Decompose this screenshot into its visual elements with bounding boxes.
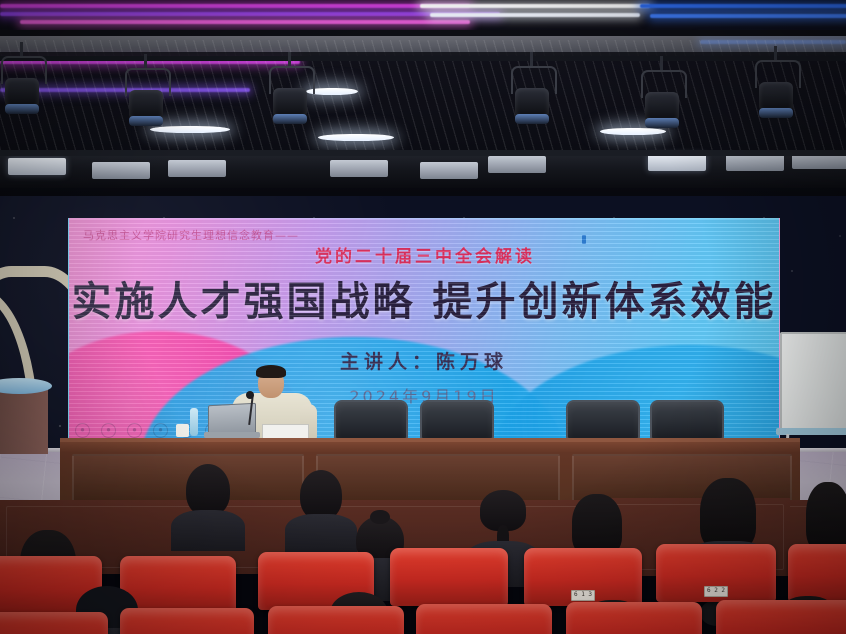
person-head — [806, 482, 846, 552]
blue-strip-2 — [650, 14, 846, 18]
stage-chair — [420, 400, 494, 440]
spotlight-lens — [759, 108, 793, 118]
auditorium-seat[interactable] — [120, 608, 254, 634]
presenter-hair — [256, 365, 286, 378]
lighting-bar — [0, 150, 846, 156]
auditorium-seat[interactable]: 6 2 2 — [656, 544, 776, 602]
violet-strip — [0, 12, 500, 16]
auditorium-seat[interactable] — [268, 606, 404, 634]
auditorium-seat[interactable] — [390, 548, 508, 606]
whiteboard — [780, 332, 846, 432]
person-hair — [186, 464, 230, 516]
person-head — [480, 490, 526, 548]
person-hair — [806, 482, 846, 552]
spotlight-lens — [645, 118, 679, 128]
ceiling-panel-light — [92, 162, 150, 179]
auditorium-seat[interactable]: 6 1 8 — [716, 600, 846, 634]
magenta-strip-2 — [20, 20, 470, 24]
stage-spotlight — [124, 60, 168, 140]
spotlight-lens — [129, 116, 163, 126]
ceiling-panel-light — [488, 156, 546, 173]
auditorium-seat[interactable]: 6 1 3 — [524, 548, 642, 606]
seat-number-plate: 6 2 2 — [704, 586, 728, 597]
person-bun — [370, 510, 389, 524]
person-head — [572, 494, 622, 556]
ceiling-panel-light — [330, 160, 388, 177]
stage-chair — [650, 400, 724, 440]
microphone-head — [246, 391, 254, 399]
ceiling-panel-light — [168, 160, 226, 177]
lecture-hall-photo: 马克思主义学院研究生理想信念教育—— 党的二十届三中全会解读 实施人才强国战略 … — [0, 0, 846, 634]
ceiling-panel-light — [648, 154, 706, 171]
paper-cup — [176, 424, 189, 437]
ceiling-panel-light — [726, 154, 784, 171]
spotlight-lens — [515, 114, 549, 124]
person-hair — [572, 494, 622, 556]
ceiling-panel-light — [8, 158, 66, 175]
person-head — [186, 464, 230, 516]
magenta-strip — [0, 4, 470, 8]
stage-chair — [566, 400, 640, 440]
ceiling-panel-light — [420, 162, 478, 179]
person-hair — [700, 478, 756, 550]
person-hair — [300, 470, 342, 520]
stage-spotlight — [754, 52, 798, 132]
ceiling-beam — [0, 30, 846, 36]
stage-spotlight — [640, 62, 684, 142]
water-bottle — [190, 408, 198, 436]
podium — [0, 388, 48, 454]
stage-chair — [334, 400, 408, 440]
white-strip-2 — [430, 13, 640, 17]
person-shoulders — [171, 510, 246, 552]
stage-spotlight — [268, 58, 312, 138]
spotlight-lens — [273, 114, 307, 124]
white-strip — [420, 4, 650, 8]
person-head — [300, 470, 342, 520]
auditorium-seat[interactable]: 6 1 6 — [566, 602, 702, 634]
auditorium-seat[interactable] — [416, 604, 552, 634]
stage-spotlight — [510, 58, 554, 138]
auditorium-seat[interactable] — [788, 544, 846, 602]
person-head — [700, 478, 756, 550]
stage-spotlight — [0, 48, 44, 128]
spotlight-lens — [5, 104, 39, 114]
auditorium-seat[interactable] — [0, 612, 108, 634]
person-shoulders — [285, 514, 356, 554]
tube-light — [318, 134, 394, 141]
blue-strip — [640, 4, 846, 8]
ceiling-truss-area — [0, 0, 846, 196]
